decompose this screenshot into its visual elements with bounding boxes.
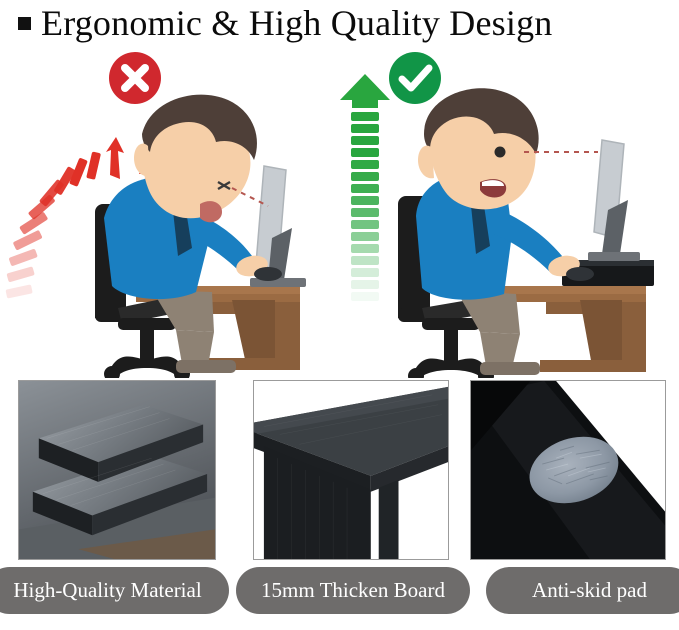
bad-posture-illustration [0,42,339,378]
caption-label: High-Quality Material [13,578,201,603]
product-photo-strip [0,380,679,562]
caption-pill-anti-skid-pad: Anti-skid pad [486,567,679,614]
infographic-page: Ergonomic & High Quality Design [0,0,679,630]
bad-posture-panel [0,42,339,378]
page-title: Ergonomic & High Quality Design [0,0,679,46]
square-bullet-icon [18,17,31,30]
monitor-raised [588,140,640,261]
x-mark-badge [108,51,162,105]
computer-mouse [566,267,594,281]
caption-label: 15mm Thicken Board [261,578,445,603]
caption-label: Anti-skid pad [532,578,647,603]
posture-comparison [0,42,679,378]
stacked-boards-photo [18,380,216,560]
check-mark-badge [388,51,442,105]
board-corner-photo [253,380,449,560]
red-x-circle-icon [108,51,162,105]
caption-pill-row: High-Quality Material 15mm Thicken Board… [0,567,679,617]
page-title-text: Ergonomic & High Quality Design [41,5,552,41]
good-posture-panel [340,42,679,378]
green-up-arrow [340,74,390,301]
caption-pill-high-quality-material: High-Quality Material [0,567,229,614]
green-check-circle-icon [388,51,442,105]
computer-mouse [254,267,282,281]
caption-pill-thicken-board: 15mm Thicken Board [236,567,470,614]
anti-skid-pad-photo [470,380,666,560]
